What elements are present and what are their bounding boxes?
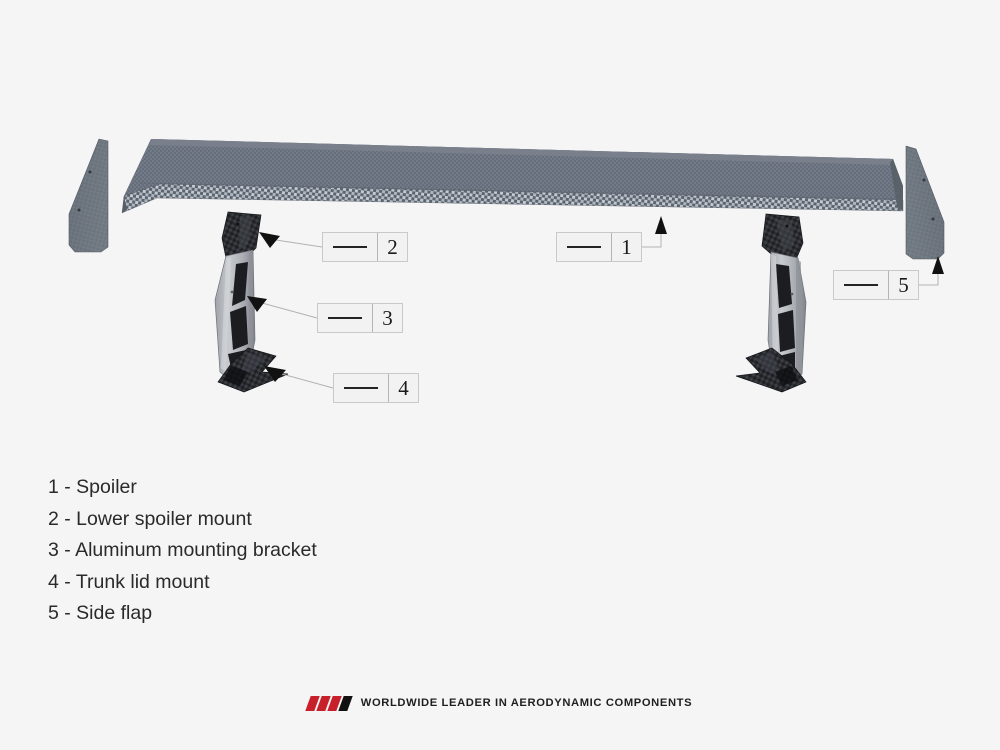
footer-banner: WORLDWIDE LEADER IN AERODYNAMIC COMPONEN… [0, 690, 1000, 716]
legend-item-5: 5 - Side flap [48, 598, 317, 630]
arrowhead-1 [655, 216, 667, 234]
callout-box-2[interactable]: 2 [322, 232, 408, 262]
callout-box-3[interactable]: 3 [317, 303, 403, 333]
parts-legend: 1 - Spoiler 2 - Lower spoiler mount 3 - … [48, 472, 317, 630]
legend-item-4: 4 - Trunk lid mount [48, 567, 317, 599]
leader-line-4 [282, 374, 333, 388]
leader-line-3 [262, 303, 317, 318]
callout-dash-cell-1 [557, 233, 612, 261]
callout-box-1[interactable]: 1 [556, 232, 642, 262]
dash-icon [333, 246, 367, 248]
callout-dash-cell-2 [323, 233, 378, 261]
callout-number-3: 3 [373, 304, 402, 332]
side-flap-right [906, 146, 944, 259]
brand-slash-logo-icon [308, 695, 350, 711]
spoiler-wing [122, 139, 903, 213]
callout-dash-cell-3 [318, 304, 373, 332]
callout-number-5: 5 [889, 271, 918, 299]
callout-box-5[interactable]: 5 [833, 270, 919, 300]
footer-tagline: WORLDWIDE LEADER IN AERODYNAMIC COMPONEN… [361, 697, 692, 709]
callout-dash-cell-4 [334, 374, 389, 402]
callout-number-4: 4 [389, 374, 418, 402]
dash-icon [567, 246, 601, 248]
legend-item-2: 2 - Lower spoiler mount [48, 504, 317, 536]
callout-number-1: 1 [612, 233, 641, 261]
dash-icon [844, 284, 878, 286]
callout-box-4[interactable]: 4 [333, 373, 419, 403]
dash-icon [328, 317, 362, 319]
diagram-canvas: 1 2 3 4 5 1 - Spoiler 2 - Lower spoiler … [0, 0, 1000, 750]
callout-number-2: 2 [378, 233, 407, 261]
dash-icon [344, 387, 378, 389]
legend-item-1: 1 - Spoiler [48, 472, 317, 504]
spoiler-illustration [0, 0, 1000, 440]
side-flap-left [69, 139, 108, 252]
callout-dash-cell-5 [834, 271, 889, 299]
leader-line-2 [276, 240, 322, 247]
legend-item-3: 3 - Aluminum mounting bracket [48, 535, 317, 567]
